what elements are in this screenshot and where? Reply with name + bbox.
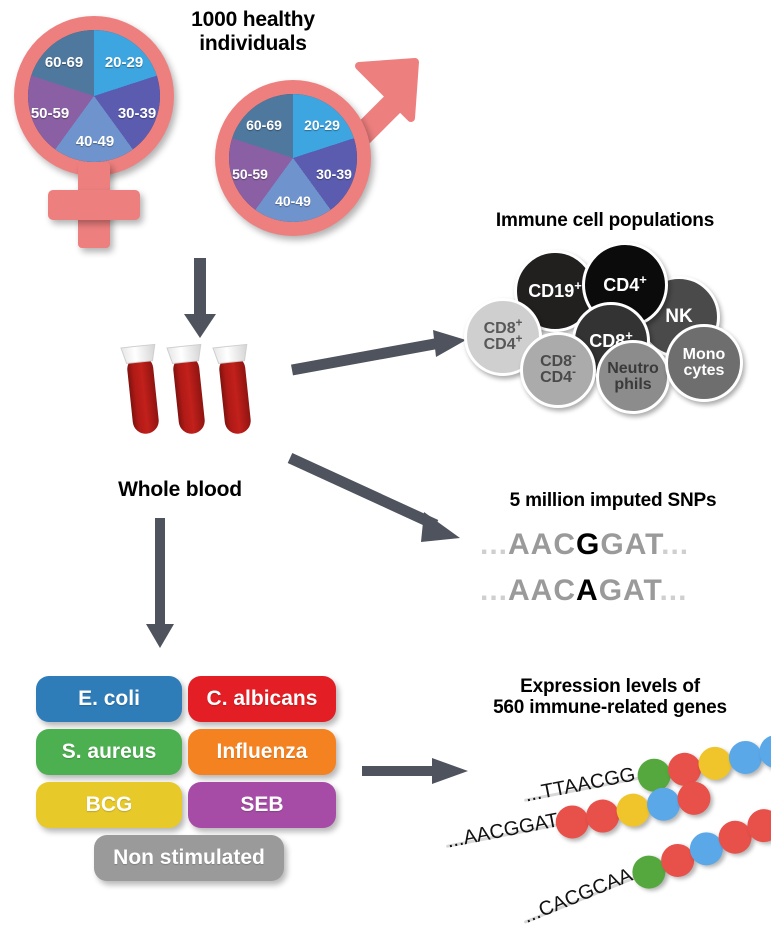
stimulus-pill-s-aureus-label: S. aureus bbox=[62, 740, 157, 764]
stimulus-pill-bcg[interactable]: BCG bbox=[36, 782, 182, 828]
stimuli-panel: E. coli C. albicans S. aureus Influenza … bbox=[36, 676, 336, 891]
blood-tube-1 bbox=[121, 344, 164, 435]
male-pie-label-60-69: 60-69 bbox=[235, 117, 293, 133]
strand-3-sequence: ...CACGCAA bbox=[520, 864, 636, 929]
arrow-blood-to-immune bbox=[290, 330, 470, 380]
snp-row-2-right: GAT bbox=[599, 574, 660, 607]
pie-label-40-49: 40-49 bbox=[65, 133, 125, 150]
snp-row-1-left: AAC bbox=[508, 528, 576, 561]
immune-bubble-cd8pos-cd4pos-line2: CD4 bbox=[484, 336, 516, 353]
immune-bubble-cd8neg-cd4neg-line1: CD8 bbox=[540, 353, 572, 370]
immune-bubble-neutrophils-line1: Neutro bbox=[607, 360, 659, 377]
expression-title-line2: 560 immune-related genes bbox=[452, 697, 768, 718]
snp-sequence-row-1: ...AACGGAT... bbox=[480, 528, 689, 562]
immune-bubble-monocytes-line2: cytes bbox=[684, 362, 725, 379]
immune-bubble-cd8pos-cd4pos-line1: CD8 bbox=[484, 320, 516, 337]
male-pie-label-40-49: 40-49 bbox=[264, 193, 322, 209]
snp-row-1-suffix: ... bbox=[661, 528, 689, 561]
expression-strands: ...TTAACGG ...AACGGAT ...CACGCAA bbox=[452, 730, 771, 920]
stimulus-pill-influenza-label: Influenza bbox=[216, 740, 307, 764]
immune-bubble-nk-label: NK bbox=[665, 307, 692, 326]
immune-bubble-cd8neg-cd4neg-line2: CD4 bbox=[540, 369, 572, 386]
stimulus-pill-non-stimulated-label: Non stimulated bbox=[113, 846, 265, 870]
immune-title: Immune cell populations bbox=[455, 210, 755, 231]
arrow-blood-to-stimuli bbox=[140, 518, 180, 650]
strand-2-bead-5 bbox=[675, 779, 714, 818]
expression-title: Expression levels of 560 immune-related … bbox=[452, 676, 768, 719]
immune-bubble-cd4-label: CD4 bbox=[603, 275, 639, 295]
pie-label-60-69: 60-69 bbox=[34, 54, 94, 71]
stimulus-pill-influenza[interactable]: Influenza bbox=[188, 729, 336, 775]
snp-row-2-suffix: ... bbox=[659, 574, 687, 607]
stimulus-pill-c-albicans[interactable]: C. albicans bbox=[188, 676, 336, 722]
stimulus-pill-bcg-label: BCG bbox=[86, 793, 133, 817]
strand-2-bead-1 bbox=[553, 803, 592, 842]
male-pie-label-50-59: 50-59 bbox=[221, 166, 279, 182]
arrow-blood-to-snps bbox=[288, 450, 468, 550]
immune-bubble-cd4-sup: + bbox=[639, 272, 647, 287]
blood-tube-2 bbox=[167, 344, 210, 435]
male-pie-label-20-29: 20-29 bbox=[293, 117, 351, 133]
strand-2-bead-4 bbox=[644, 785, 683, 824]
strand-2-sequence: ...AACGGAT bbox=[445, 809, 560, 853]
strand-2-bead-2 bbox=[583, 797, 622, 836]
snp-row-2-left: AAC bbox=[508, 574, 576, 607]
stimulus-pill-s-aureus[interactable]: S. aureus bbox=[36, 729, 182, 775]
strand-2-bead-3 bbox=[614, 791, 653, 830]
snp-title: 5 million imputed SNPs bbox=[468, 490, 758, 511]
snp-sequences: ...AACGGAT... ...AACAGAT... bbox=[480, 528, 750, 618]
stimulus-pill-e-coli[interactable]: E. coli bbox=[36, 676, 182, 722]
immune-bubble-cd19-label: CD19 bbox=[528, 281, 574, 301]
stimulus-pill-non-stimulated[interactable]: Non stimulated bbox=[94, 835, 284, 881]
male-symbol: 60-69 20-29 50-59 30-39 40-49 bbox=[205, 62, 410, 252]
immune-bubble-monocytes-line1: Mono bbox=[683, 346, 726, 363]
immune-bubble-cd19-sup: + bbox=[574, 278, 582, 293]
immune-cell-cluster: NK CD19+ CD4+ CD8+ CD8+ CD4+ CD8- CD4- N… bbox=[462, 240, 762, 410]
stimulus-pill-seb-label: SEB bbox=[240, 793, 283, 817]
snp-row-1-variant: G bbox=[576, 528, 600, 561]
female-symbol: 60-69 20-29 50-59 30-39 40-49 bbox=[8, 12, 208, 252]
stimulus-pill-seb[interactable]: SEB bbox=[188, 782, 336, 828]
female-cross-bar bbox=[48, 190, 140, 220]
stimulus-pill-c-albicans-label: C. albicans bbox=[207, 687, 318, 711]
immune-bubble-monocytes: Mono cytes bbox=[665, 324, 743, 402]
stimulus-pill-e-coli-label: E. coli bbox=[78, 687, 140, 711]
whole-blood-label: Whole blood bbox=[80, 478, 280, 502]
blood-tubes bbox=[118, 340, 263, 450]
male-pie-label-30-39: 30-39 bbox=[305, 166, 363, 182]
expression-title-line1: Expression levels of bbox=[452, 676, 768, 697]
snp-row-1-right: GAT bbox=[600, 528, 661, 561]
pie-label-50-59: 50-59 bbox=[20, 105, 80, 122]
snp-row-2-variant: A bbox=[576, 574, 599, 607]
snp-row-2-prefix: ... bbox=[480, 574, 508, 607]
arrow-cohort-to-blood bbox=[180, 258, 220, 340]
strand-1-bead-4 bbox=[726, 738, 765, 777]
immune-bubble-neutrophils: Neutro phils bbox=[596, 340, 670, 414]
immune-bubble-neutrophils-line2: phils bbox=[614, 376, 651, 393]
blood-tube-3 bbox=[213, 344, 256, 435]
snp-row-1-prefix: ... bbox=[480, 528, 508, 561]
immune-bubble-cd8neg-cd4neg: CD8- CD4- bbox=[520, 332, 596, 408]
pie-label-30-39: 30-39 bbox=[107, 105, 167, 122]
pie-label-20-29: 20-29 bbox=[94, 54, 154, 71]
snp-sequence-row-2: ...AACAGAT... bbox=[480, 574, 687, 608]
